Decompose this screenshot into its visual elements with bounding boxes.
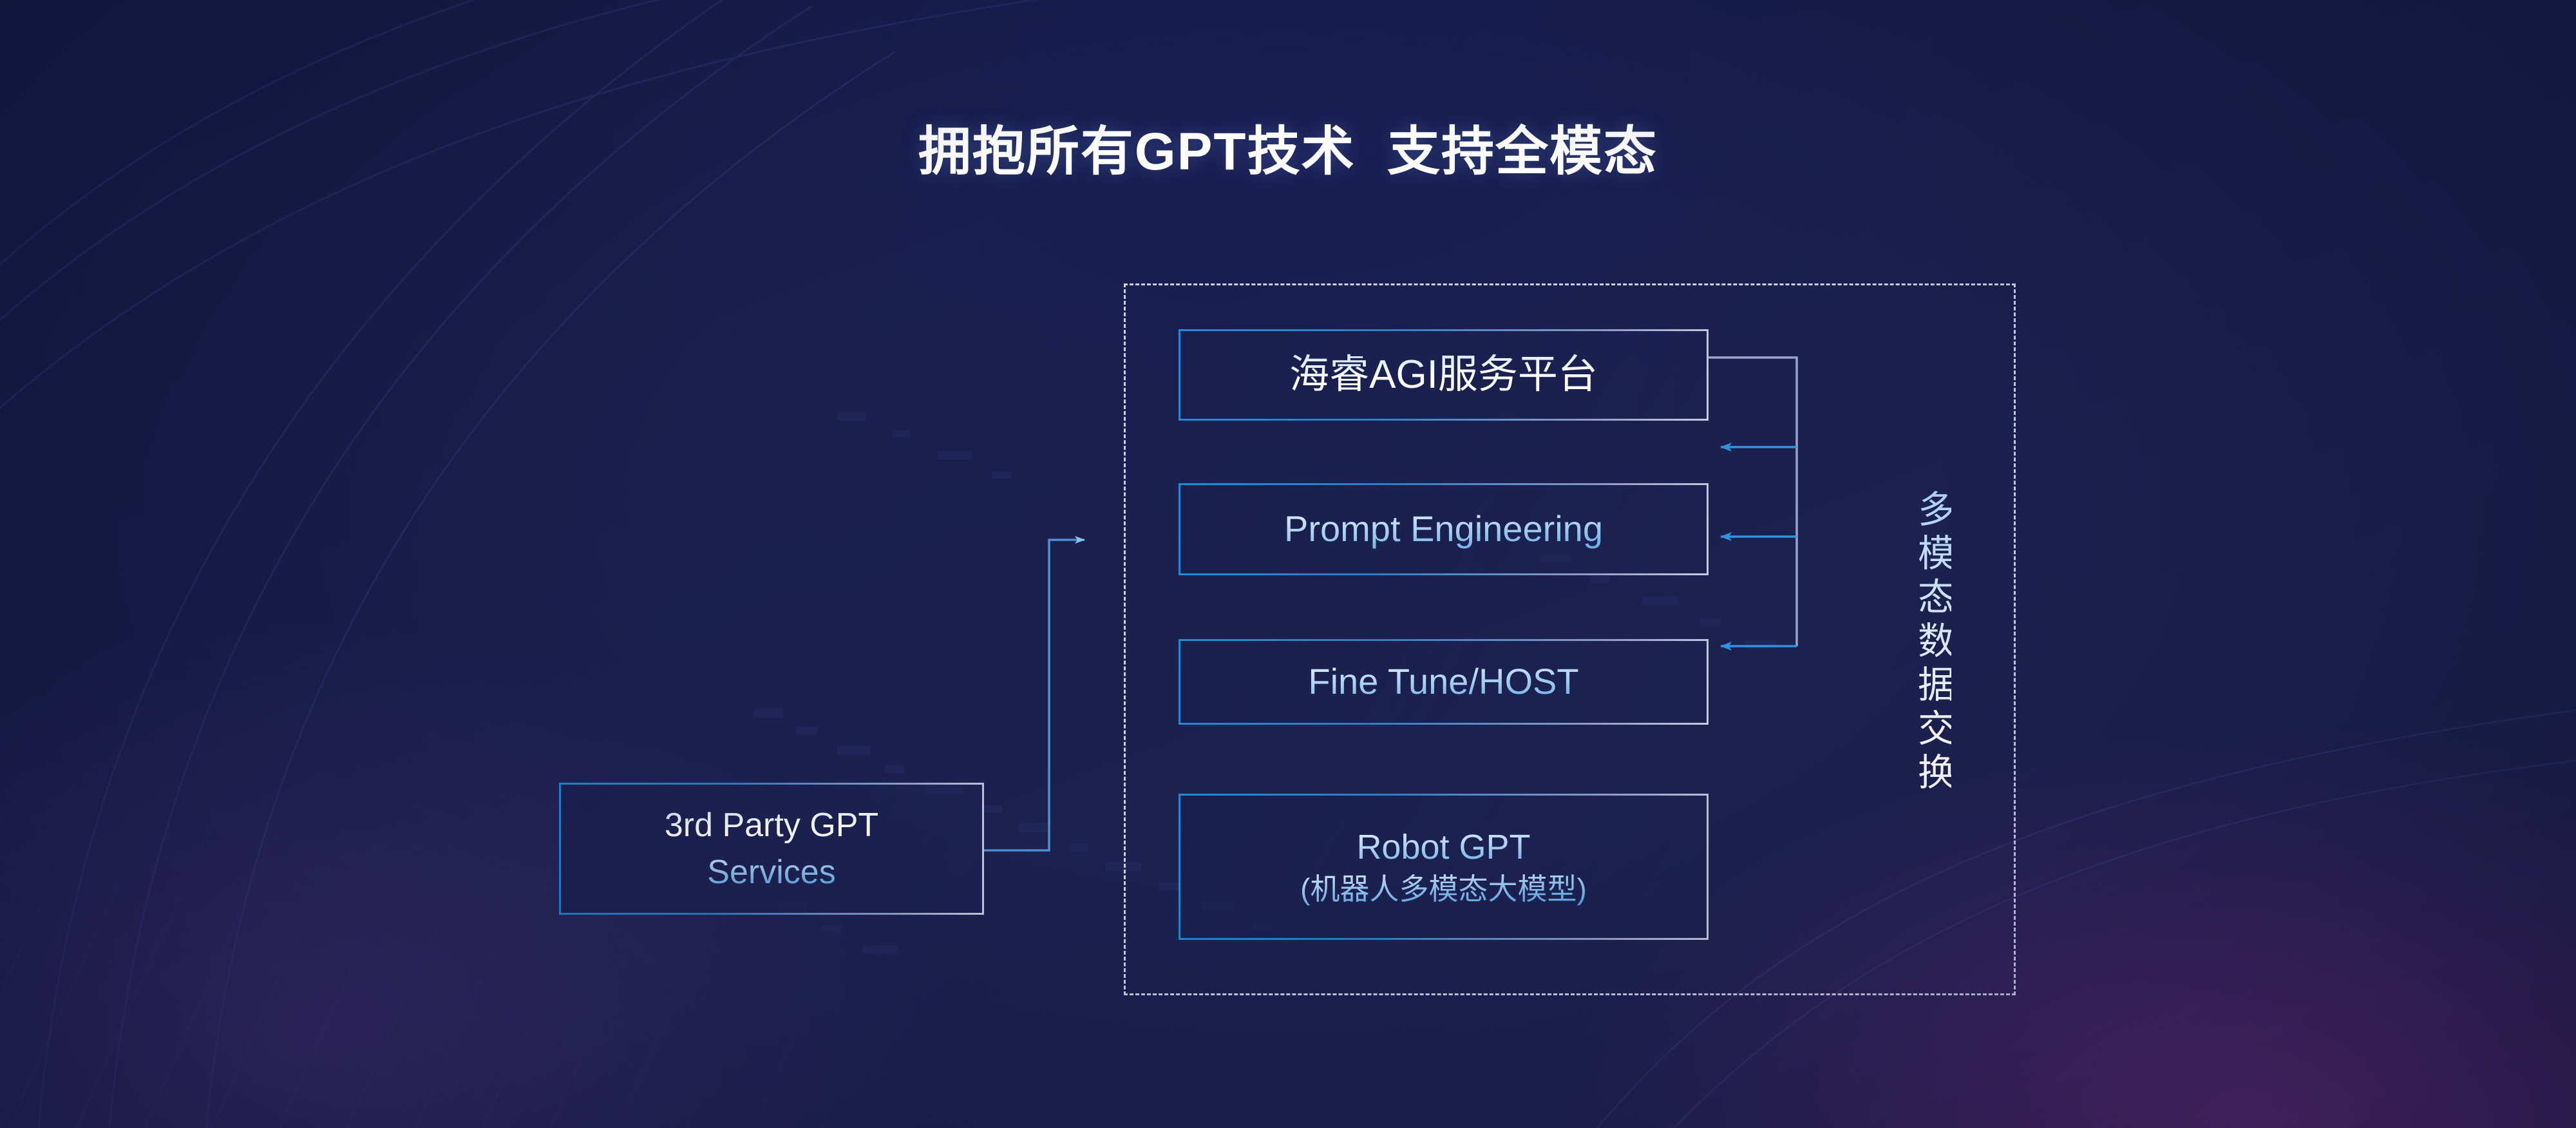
node-robot-gpt-subtitle: (机器人多模态大模型) xyxy=(1300,873,1587,906)
node-third-party-gpt-services[interactable]: 3rd Party GPT Services xyxy=(559,783,984,915)
node-agi-platform[interactable]: 海睿AGI服务平台 xyxy=(1179,329,1709,421)
page-title: 拥抱所有GPT技术 支持全模态 xyxy=(0,108,2576,185)
node-prompt-engineering-label: Prompt Engineering xyxy=(1284,509,1603,550)
multimodal-data-exchange-label: 多模态数据交换 xyxy=(1901,490,1951,796)
node-robot-gpt[interactable]: Robot GPT (机器人多模态大模型) xyxy=(1179,794,1709,940)
node-fine-tune-host-label: Fine Tune/HOST xyxy=(1308,662,1578,702)
node-robot-gpt-title: Robot GPT xyxy=(1356,828,1530,866)
node-fine-tune-host[interactable]: Fine Tune/HOST xyxy=(1179,639,1709,725)
node-prompt-engineering[interactable]: Prompt Engineering xyxy=(1179,483,1709,575)
node-third-party-gpt-title: 3rd Party GPT xyxy=(665,807,878,844)
node-agi-platform-label: 海睿AGI服务平台 xyxy=(1289,352,1598,397)
slide-canvas: 拥抱所有GPT技术 支持全模态 海睿AGI服务平台 Prompt Enginee… xyxy=(0,0,2576,1128)
node-third-party-gpt-subtitle: Services xyxy=(707,854,835,891)
